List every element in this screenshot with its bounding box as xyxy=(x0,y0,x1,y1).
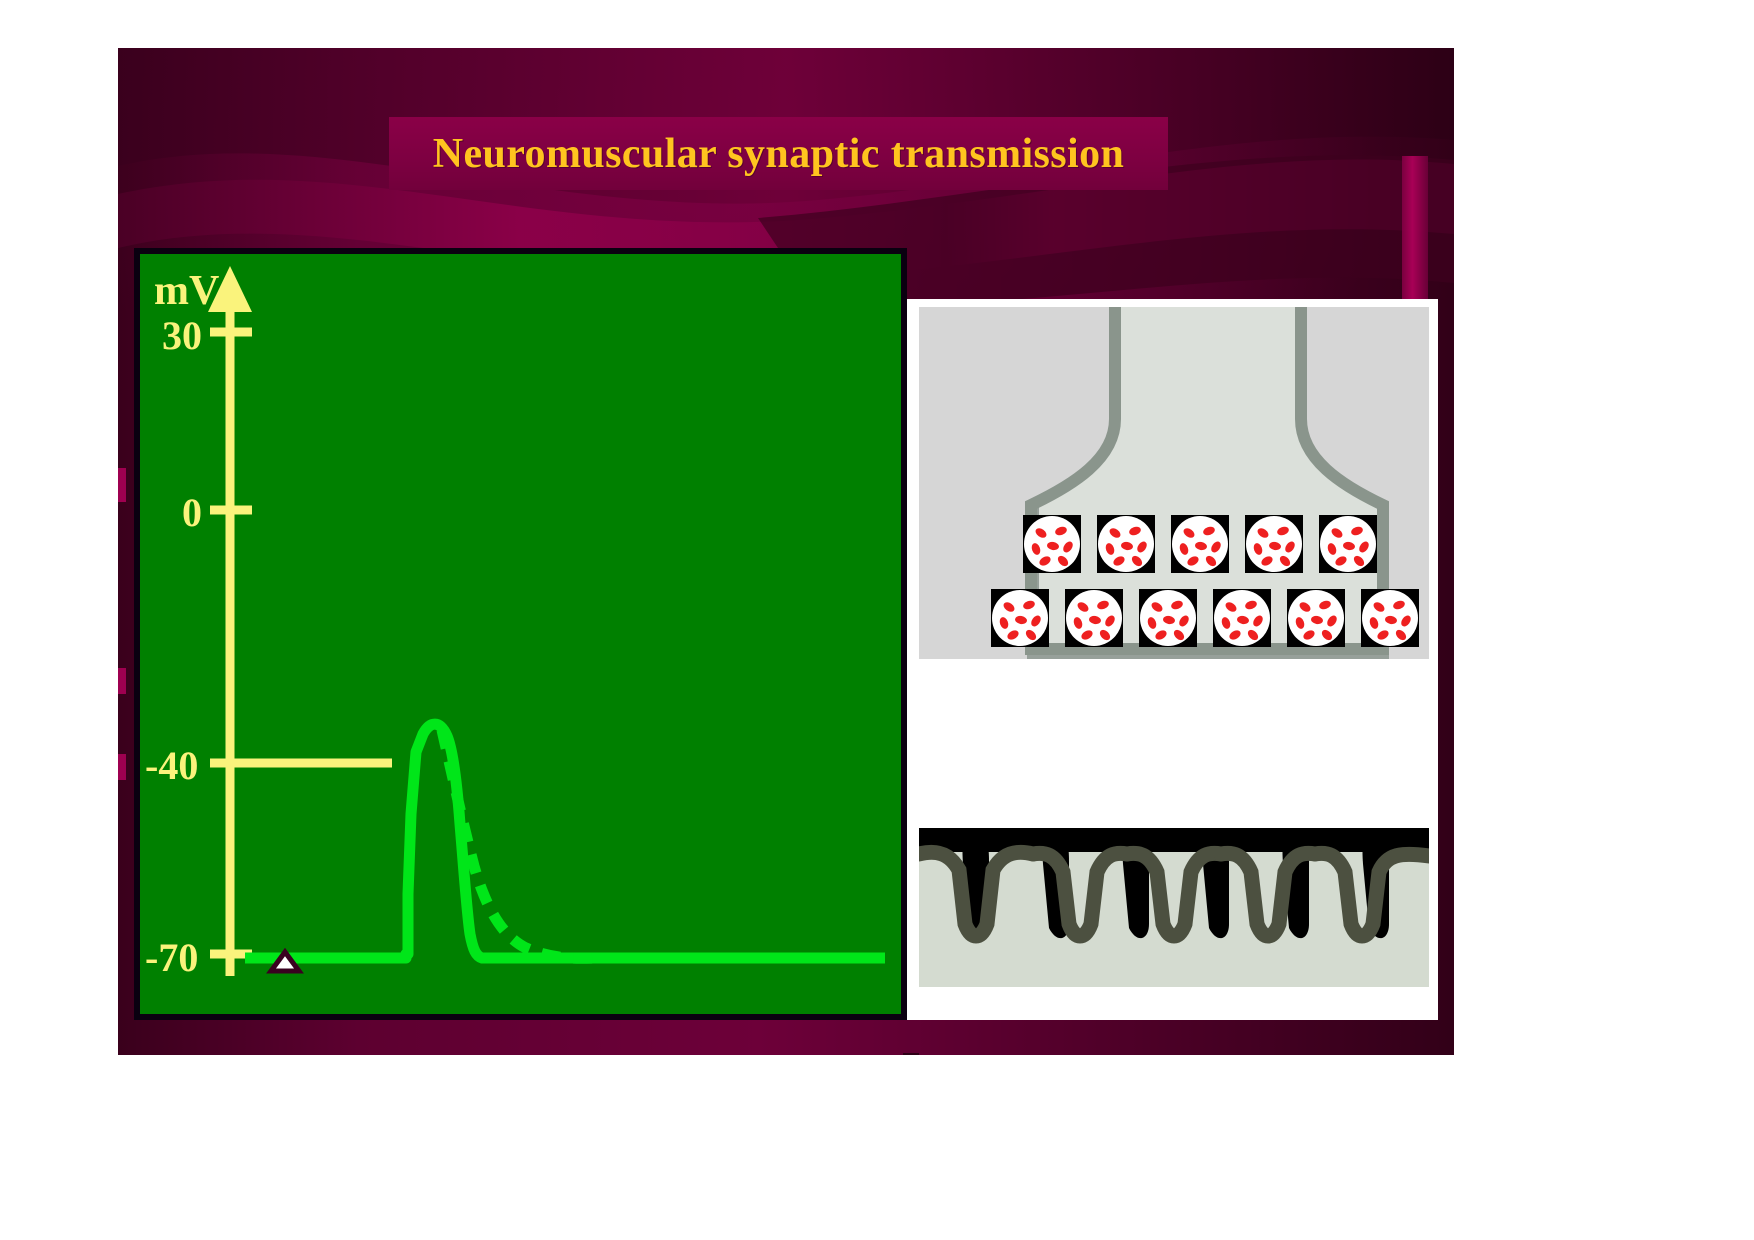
slide-footer-mark xyxy=(903,1053,919,1055)
synaptic-vesicle xyxy=(1245,515,1303,573)
slide: Neuromuscular synaptic transmission xyxy=(118,48,1454,1055)
synaptic-vesicle xyxy=(1319,515,1377,573)
synapse-illustration-column xyxy=(907,299,1438,1020)
membrane-potential-chart-panel: mV 30 0 -40 -70 xyxy=(134,248,907,1020)
y-tick-label-0: 0 xyxy=(182,493,202,533)
chart-svg xyxy=(140,254,901,1014)
synaptic-vesicle xyxy=(1171,515,1229,573)
synaptic-vesicle xyxy=(1065,589,1123,647)
postsynaptic-muscle-svg xyxy=(919,828,1429,987)
synaptic-vesicle xyxy=(1213,589,1271,647)
decorative-pip xyxy=(118,468,126,502)
synaptic-vesicle xyxy=(1287,589,1345,647)
decorative-pip xyxy=(118,754,126,780)
postsynaptic-muscle-panel xyxy=(919,828,1429,987)
decorative-tube xyxy=(1402,156,1428,321)
synaptic-vesicle xyxy=(1139,589,1197,647)
synaptic-vesicle xyxy=(1361,589,1419,647)
y-axis xyxy=(208,266,252,976)
presynaptic-terminal-svg xyxy=(919,307,1429,659)
vesicle-row-upper xyxy=(1023,515,1377,573)
synaptic-vesicle xyxy=(1097,515,1155,573)
y-axis-unit-label: mV xyxy=(154,270,219,312)
chart-plot-area: mV 30 0 -40 -70 xyxy=(140,254,901,1014)
y-tick-label-minus-70: -70 xyxy=(145,938,198,978)
y-tick-label-minus-40: -40 xyxy=(145,746,198,786)
presynaptic-terminal-panel xyxy=(919,307,1429,659)
y-tick-label-30: 30 xyxy=(162,316,202,356)
decorative-pip xyxy=(118,668,126,694)
synaptic-vesicle xyxy=(1023,515,1081,573)
page-title: Neuromuscular synaptic transmission xyxy=(389,117,1168,190)
synaptic-vesicle xyxy=(991,589,1049,647)
